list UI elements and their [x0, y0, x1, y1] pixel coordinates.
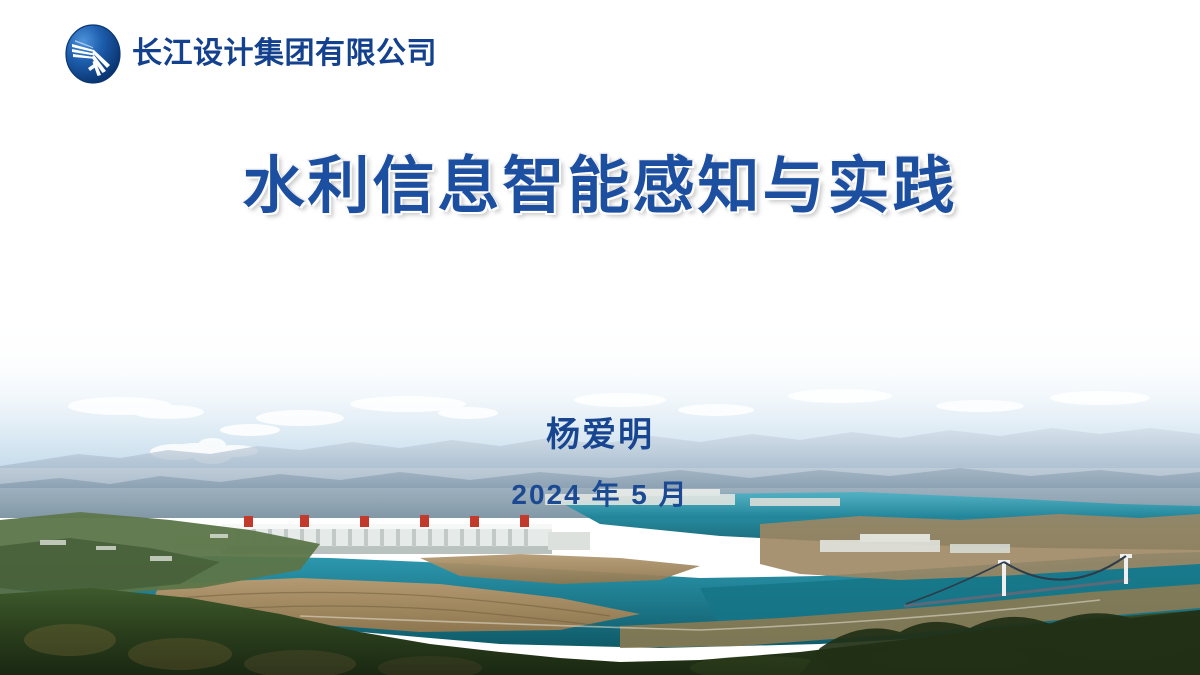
presenter-name: 杨爱明 [0, 415, 1200, 456]
slide-title: 水利信息智能感知与实践 [0, 152, 1200, 221]
company-name-label: 长江设计集团有限公司 [132, 39, 437, 69]
presentation-date: 2024 年 5 月 [0, 478, 1200, 512]
changjiang-design-group-emblem-icon [64, 24, 122, 84]
company-logo: 长江设计集团有限公司 [64, 24, 437, 84]
presentation-slide: 长江设计集团有限公司 水利信息智能感知与实践 杨爱明 2024 年 5 月 [0, 0, 1200, 675]
